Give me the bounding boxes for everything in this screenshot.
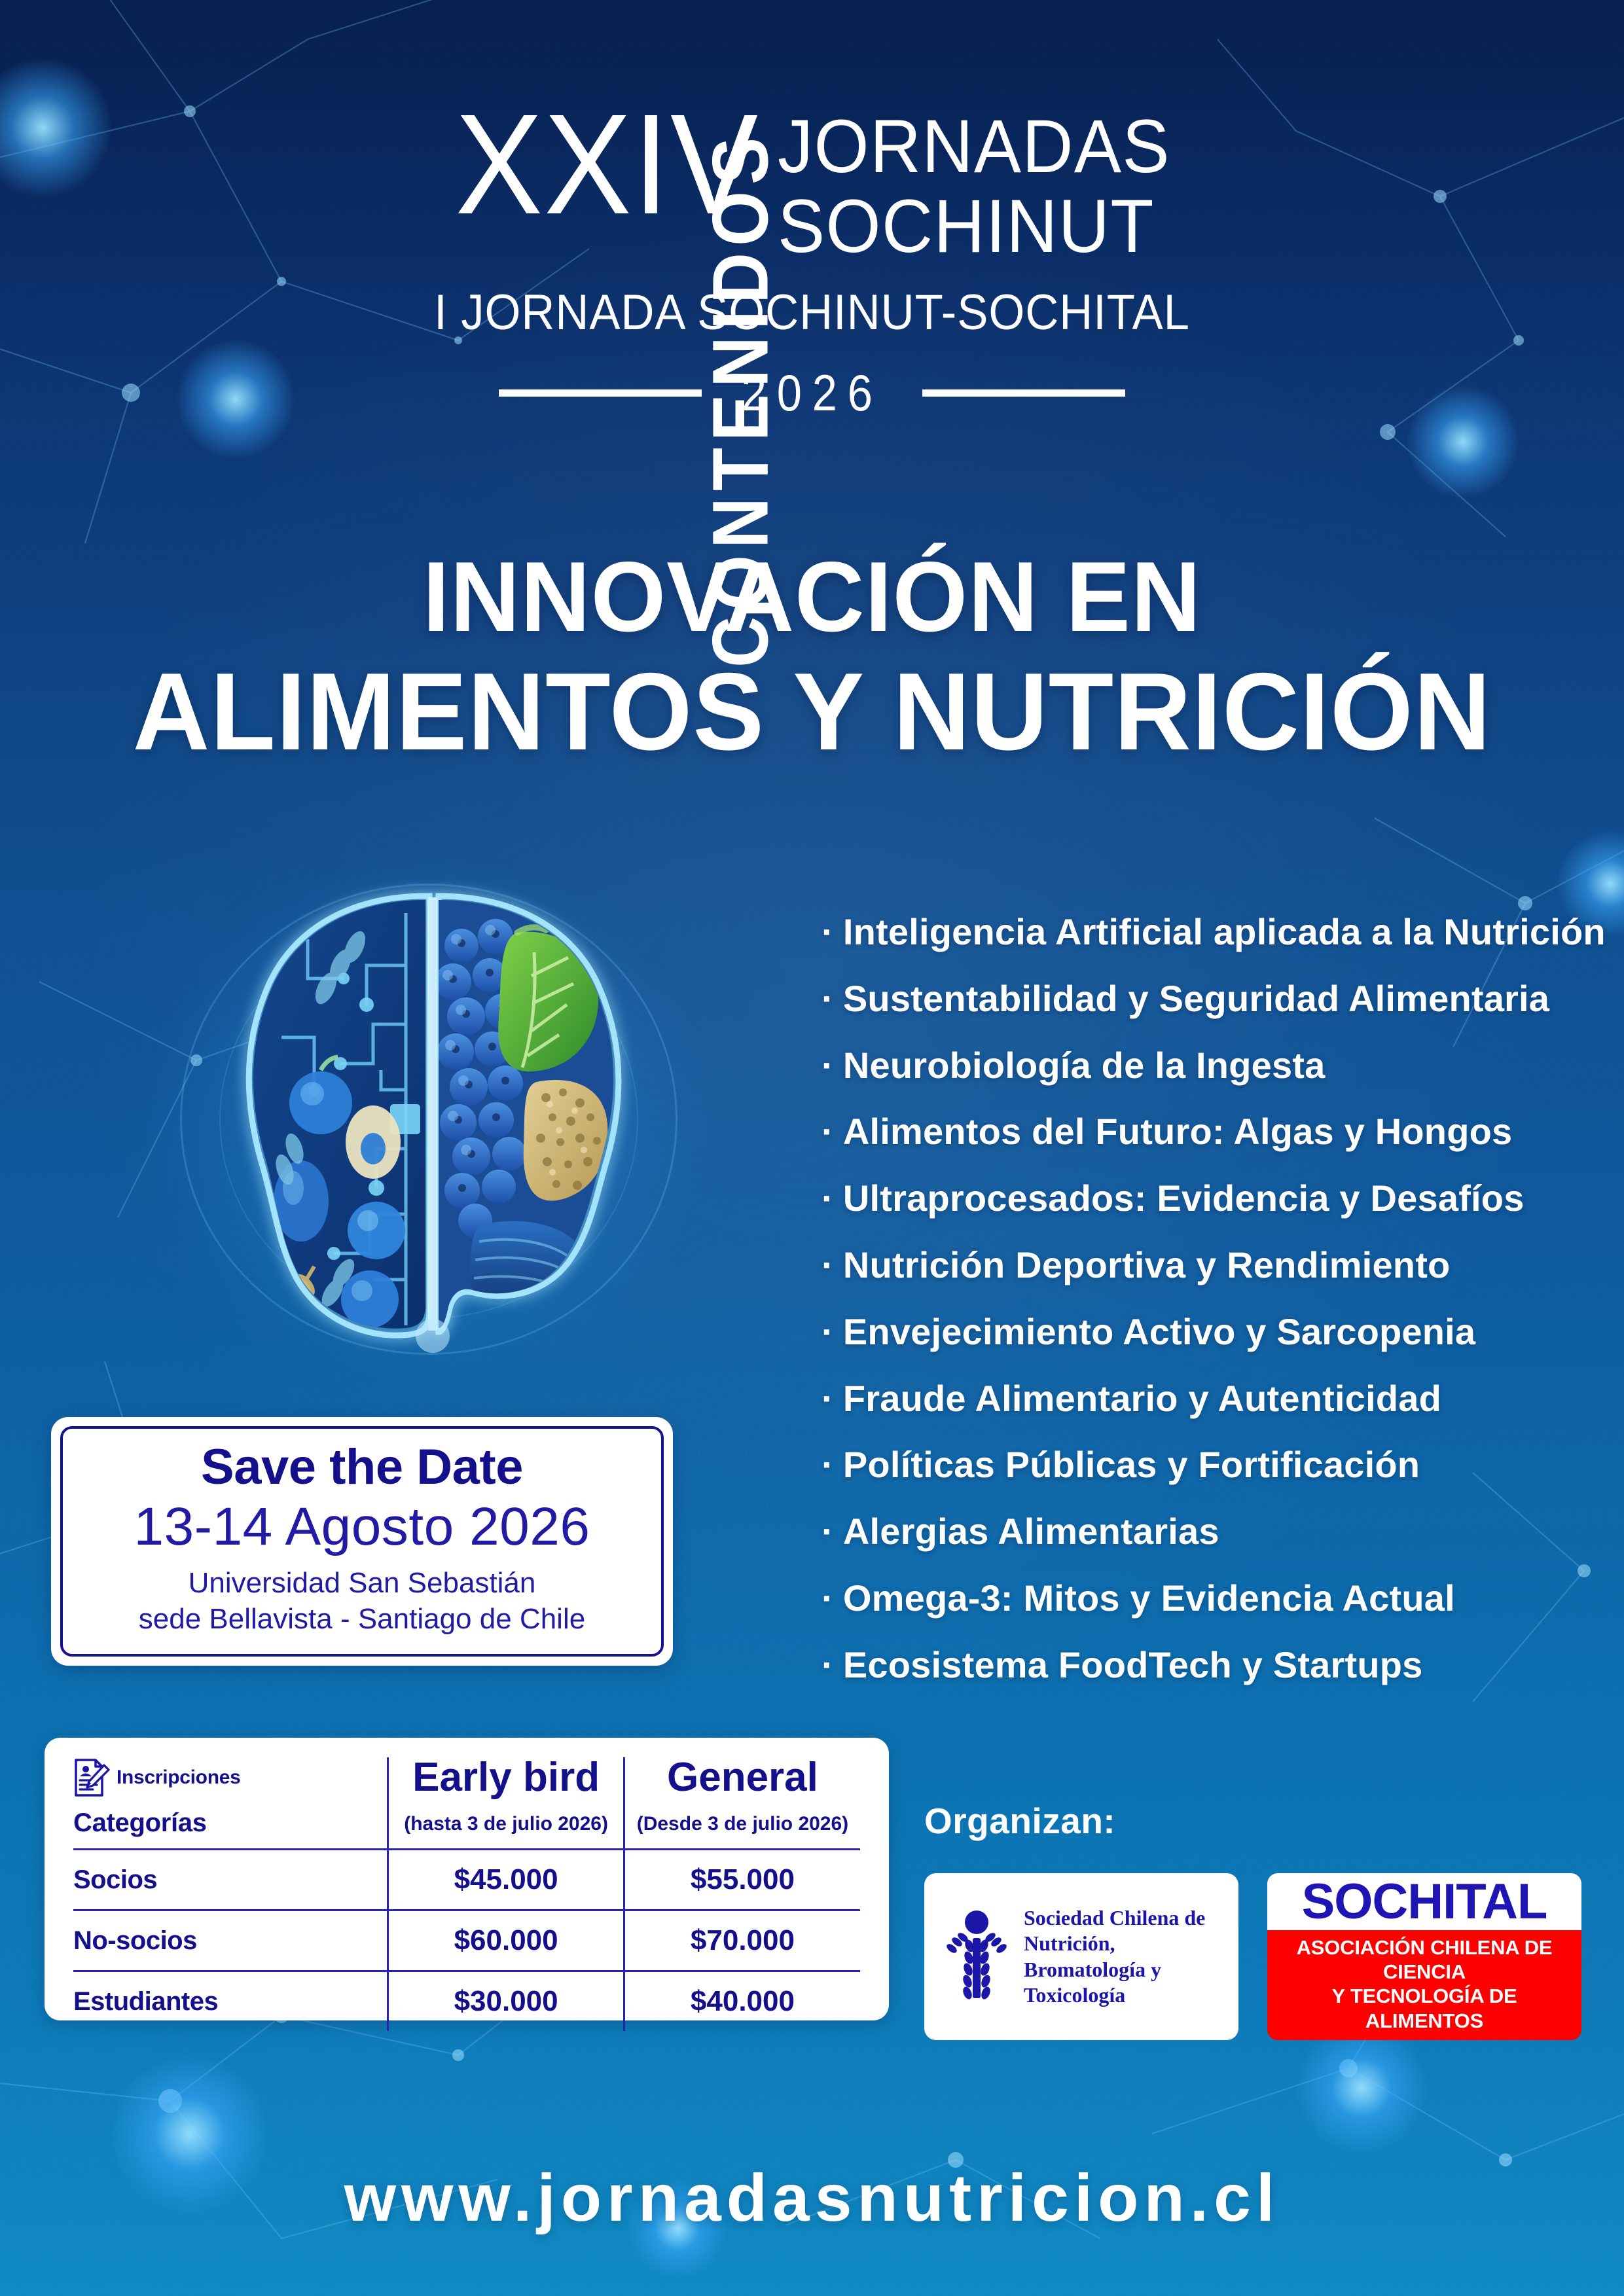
contents-item-label: Omega-3: Mitos y Evidencia Actual: [843, 1577, 1455, 1619]
bullet-icon: ·: [821, 1045, 834, 1086]
bullet-icon: ·: [821, 1577, 834, 1619]
row-early-bird-price: $60.000: [389, 1911, 623, 1970]
poster-canvas: XXIV JORNADAS SOCHINUT I JORNADA SOCHINU…: [0, 0, 1624, 2296]
row-general-cell: $55.000: [624, 1850, 860, 1910]
bullet-icon: ·: [821, 1244, 834, 1285]
row-general-price: $70.000: [625, 1911, 860, 1970]
year-divider-right: [922, 389, 1125, 397]
contents-item-label: Fraude Alimentario y Autenticidad: [843, 1378, 1441, 1419]
row-general-price: $55.000: [625, 1850, 860, 1909]
bullet-icon: ·: [821, 1511, 834, 1552]
general-header: General: [624, 1757, 860, 1798]
page-title-line1: INNOVACIÓN EN: [24, 543, 1600, 652]
bullet-icon: ·: [821, 1444, 834, 1485]
row-general-price: $40.000: [625, 1972, 860, 2031]
contents-item-label: Sustentabilidad y Seguridad Alimentaria: [843, 978, 1549, 1019]
event-subtitle: I JORNADA SOCHINUT-SOCHITAL: [57, 284, 1567, 341]
contents-item: ·Omega-3: Mitos y Evidencia Actual: [821, 1579, 1594, 1618]
bullet-icon: ·: [821, 1311, 834, 1352]
row-category-cell: Socios: [73, 1850, 388, 1910]
general-title: General: [625, 1757, 860, 1798]
contents-list: ·Inteligencia Artificial aplicada a la N…: [821, 913, 1594, 1713]
row-category-cell: No-socios: [73, 1910, 388, 1971]
contents-item: ·Políticas Públicas y Fortificación: [821, 1446, 1594, 1484]
row-category-label: Estudiantes: [73, 1974, 387, 2030]
brain-right-food-half: [432, 887, 628, 1355]
brain-base-glow: [416, 1319, 450, 1353]
sochinut-name: Sociedad Chilena de Nutrición, Bromatolo…: [1024, 1905, 1221, 2007]
general-subheader: (Desde 3 de julio 2026): [624, 1798, 860, 1850]
row-general-cell: $70.000: [624, 1910, 860, 1971]
header-title-row: XXIV JORNADAS SOCHINUT: [0, 98, 1624, 267]
sochital-tagline-band: ASOCIACIÓN CHILENA DE CIENCIA Y TECNOLOG…: [1267, 1930, 1581, 2040]
website-url[interactable]: www.jornadasnutricion.cl: [0, 2160, 1624, 2236]
venue-line-2: sede Bellavista - Santiago de Chile: [139, 1602, 585, 1638]
early-bird-subheader: (hasta 3 de julio 2026): [388, 1798, 624, 1850]
year-row: 2026: [0, 363, 1624, 423]
bullet-icon: ·: [821, 911, 834, 952]
event-venue: Universidad San Sebastián sede Bellavist…: [139, 1566, 585, 1637]
event-name-line2: SOCHINUT: [778, 187, 1170, 267]
row-category-label: Socios: [73, 1852, 387, 1908]
sochinut-name-line1: Sociedad Chilena de Nutrición,: [1024, 1905, 1221, 1956]
table-row: No-socios $60.000 $70.000: [73, 1910, 860, 1971]
event-year: 2026: [741, 363, 882, 423]
contents-item: ·Inteligencia Artificial aplicada a la N…: [821, 913, 1594, 952]
general-subtitle: (Desde 3 de julio 2026): [625, 1805, 860, 1842]
event-name-line1: JORNADAS: [778, 107, 1170, 187]
organizers-title: Organizan:: [924, 1800, 1115, 1842]
wheat-figure-icon: [941, 1908, 1012, 2006]
bullet-icon: ·: [821, 1177, 834, 1219]
row-early-bird-price: $30.000: [389, 1972, 623, 2031]
venue-line-1: Universidad San Sebastián: [139, 1566, 585, 1602]
contents-item-label: Políticas Públicas y Fortificación: [843, 1444, 1420, 1485]
early-bird-title: Early bird: [389, 1757, 623, 1798]
sochinut-name-line2: Bromatología y Toxicología: [1024, 1957, 1221, 2008]
contents-item-label: Envejecimiento Activo y Sarcopenia: [843, 1311, 1475, 1352]
bullet-icon: ·: [821, 978, 834, 1019]
save-the-date-card: Save the Date 13-14 Agosto 2026 Universi…: [51, 1417, 673, 1666]
grains-seeds: [524, 1080, 608, 1201]
inscriptions-label: Inscripciones: [117, 1767, 241, 1789]
row-category-cell: Estudiantes: [73, 1971, 388, 2032]
registration-form-icon: [73, 1757, 110, 1798]
contents-item: ·Ultraprocesados: Evidencia y Desafíos: [821, 1179, 1594, 1218]
contents-item: ·Fraude Alimentario y Autenticidad: [821, 1380, 1594, 1418]
brain-midline: [428, 897, 437, 1331]
registration-pricing-card: Inscripciones Early bird General Categor…: [45, 1738, 889, 2020]
early-bird-subtitle: (hasta 3 de julio 2026): [389, 1805, 623, 1842]
row-general-cell: $40.000: [624, 1971, 860, 2032]
contents-item: ·Alergias Alimentarias: [821, 1513, 1594, 1551]
page-title: INNOVACIÓN EN ALIMENTOS Y NUTRICIÓN: [0, 543, 1624, 772]
table-row: Estudiantes $30.000 $40.000: [73, 1971, 860, 2032]
contents-item: ·Envejecimiento Activo y Sarcopenia: [821, 1313, 1594, 1352]
row-early-bird-cell: $45.000: [388, 1850, 624, 1910]
save-the-date-title: Save the Date: [201, 1443, 523, 1492]
brain-nutrition-illustration: [121, 838, 736, 1401]
organizer-logos: Sociedad Chilena de Nutrición, Bromatolo…: [924, 1873, 1581, 2040]
row-category-label: No-socios: [73, 1913, 387, 1969]
inscriptions-header-cell: Inscripciones: [73, 1757, 388, 1798]
pricing-table: Inscripciones Early bird General Categor…: [73, 1757, 860, 2031]
sochital-tagline-line2: Y TECNOLOGÍA DE ALIMENTOS: [1274, 1984, 1575, 2032]
contents-item-label: Nutrición Deportiva y Rendimiento: [843, 1244, 1451, 1285]
sochital-logo: SOCHITAL ASOCIACIÓN CHILENA DE CIENCIA Y…: [1267, 1873, 1581, 2040]
sochital-acronym: SOCHITAL: [1302, 1873, 1547, 1930]
table-header-top-row: Inscripciones Early bird General: [73, 1757, 860, 1798]
row-early-bird-cell: $60.000: [388, 1910, 624, 1971]
categories-label: Categorías: [73, 1798, 387, 1848]
contents-item: ·Alimentos del Futuro: Algas y Hongos: [821, 1113, 1594, 1151]
bullet-icon: ·: [821, 1378, 834, 1419]
sochital-acronym-band: SOCHITAL: [1267, 1873, 1581, 1930]
contents-item: ·Ecosistema FoodTech y Startups: [821, 1646, 1594, 1685]
contents-item: ·Neurobiología de la Ingesta: [821, 1047, 1594, 1085]
year-divider-left: [499, 389, 702, 397]
edition-roman-numeral: XXIV: [455, 98, 759, 232]
categories-header-cell: Categorías: [73, 1798, 388, 1850]
contents-item-label: Alimentos del Futuro: Algas y Hongos: [843, 1111, 1513, 1152]
event-name-block: JORNADAS SOCHINUT: [778, 98, 1195, 267]
contents-item-label: Alergias Alimentarias: [843, 1511, 1219, 1552]
contents-item: ·Nutrición Deportiva y Rendimiento: [821, 1246, 1594, 1285]
contents-item-label: Ecosistema FoodTech y Startups: [843, 1644, 1423, 1685]
poster-header: XXIV JORNADAS SOCHINUT I JORNADA SOCHINU…: [0, 98, 1624, 423]
sochinut-logo: Sociedad Chilena de Nutrición, Bromatolo…: [924, 1873, 1238, 2040]
contents-item-label: Inteligencia Artificial aplicada a la Nu…: [843, 911, 1606, 952]
row-early-bird-cell: $30.000: [388, 1971, 624, 2032]
brain-left-tech-half: [249, 887, 439, 1345]
contents-item: ·Sustentabilidad y Seguridad Alimentaria: [821, 980, 1594, 1018]
contents-item-label: Neurobiología de la Ingesta: [843, 1045, 1326, 1086]
event-dates: 13-14 Agosto 2026: [134, 1500, 590, 1554]
row-early-bird-price: $45.000: [389, 1850, 623, 1909]
bullet-icon: ·: [821, 1644, 834, 1685]
table-row: Socios $45.000 $55.000: [73, 1850, 860, 1910]
bullet-icon: ·: [821, 1111, 834, 1152]
early-bird-header: Early bird: [388, 1757, 624, 1798]
page-title-line2: ALIMENTOS Y NUTRICIÓN: [24, 652, 1600, 772]
table-header-bottom-row: Categorías (hasta 3 de julio 2026) (Desd…: [73, 1798, 860, 1850]
contents-item-label: Ultraprocesados: Evidencia y Desafíos: [843, 1177, 1525, 1219]
brain-graphic: [209, 874, 655, 1358]
save-the-date-inner-frame: Save the Date 13-14 Agosto 2026 Universi…: [60, 1426, 664, 1657]
sochital-tagline-line1: ASOCIACIÓN CHILENA DE CIENCIA: [1274, 1935, 1575, 1984]
